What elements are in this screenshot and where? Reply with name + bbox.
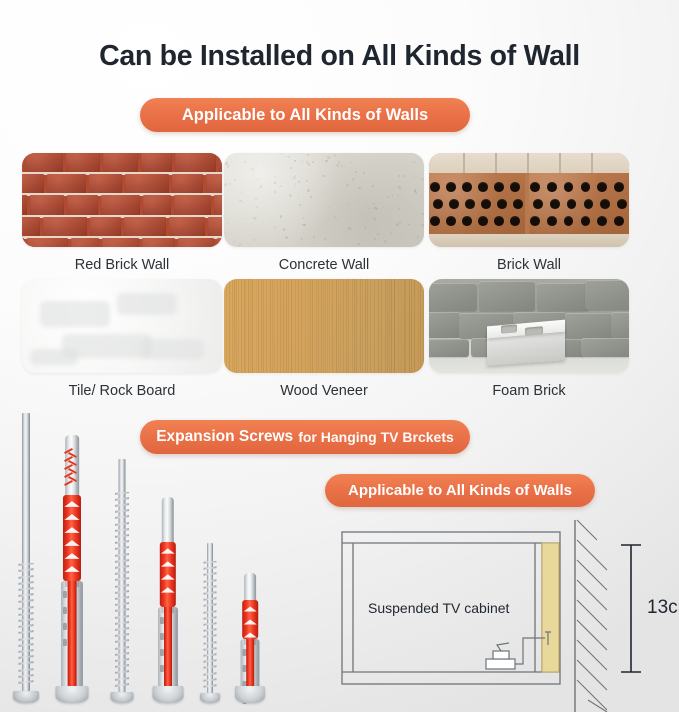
concrete-speck bbox=[293, 176, 296, 179]
concrete-speck bbox=[364, 225, 366, 227]
concrete-speck bbox=[229, 183, 231, 185]
concrete-speck bbox=[397, 194, 399, 196]
chevron-group bbox=[242, 600, 258, 638]
concrete-speck bbox=[251, 168, 254, 171]
wood-grain-line bbox=[409, 279, 410, 373]
concrete-speck bbox=[224, 183, 227, 186]
brick-hole bbox=[494, 182, 504, 192]
brick-unit bbox=[43, 217, 87, 239]
concrete-speck bbox=[227, 223, 228, 224]
concrete-speck bbox=[420, 212, 421, 213]
concrete-speck bbox=[373, 203, 376, 206]
wood-grain-line bbox=[362, 279, 363, 373]
concrete-speck bbox=[274, 176, 276, 178]
anchor-zigzag bbox=[66, 450, 78, 490]
concrete-speck bbox=[400, 161, 401, 162]
wood-grain-line bbox=[274, 279, 275, 373]
badge-applicable-walls-diagram-label: Applicable to All Kinds of Walls bbox=[348, 482, 572, 499]
concrete-speck bbox=[313, 243, 314, 244]
brick-hole bbox=[584, 199, 594, 209]
concrete-speck bbox=[403, 175, 406, 178]
anchor-notch bbox=[63, 639, 67, 646]
concrete-speck bbox=[241, 191, 243, 193]
concrete-speck bbox=[387, 196, 388, 197]
wood-grain-line bbox=[310, 279, 311, 373]
foam-block bbox=[565, 313, 613, 339]
concrete-speck bbox=[234, 179, 236, 181]
brick-unit bbox=[71, 238, 99, 247]
tile-smudge bbox=[142, 339, 204, 359]
foam-block bbox=[479, 281, 535, 311]
wall-caption-concrete: Concrete Wall bbox=[224, 257, 424, 273]
brick-unit bbox=[30, 195, 65, 217]
concrete-speck bbox=[294, 186, 295, 187]
wood-grain-line bbox=[226, 279, 227, 373]
concrete-speck bbox=[413, 161, 415, 163]
wood-grain-line bbox=[340, 279, 341, 373]
concrete-speck bbox=[290, 167, 292, 169]
concrete-speck bbox=[398, 186, 400, 188]
wood-grain-line bbox=[398, 279, 399, 373]
brick-unit bbox=[142, 238, 175, 247]
wood-grain-line bbox=[234, 279, 235, 373]
anchor-notch bbox=[63, 623, 67, 630]
concrete-speck bbox=[321, 159, 322, 160]
concrete-speck bbox=[383, 207, 384, 208]
concrete-speck bbox=[374, 238, 376, 240]
concrete-speck bbox=[321, 196, 322, 197]
wood-grain-line bbox=[312, 279, 313, 373]
concrete-speck bbox=[398, 175, 400, 177]
concrete-speck bbox=[328, 207, 329, 208]
anchor-collar bbox=[56, 686, 89, 703]
concrete-speck bbox=[253, 217, 255, 219]
wall-card-tile: Tile/ Rock Board bbox=[22, 279, 222, 399]
concrete-speck bbox=[225, 232, 226, 233]
concrete-speck bbox=[281, 153, 283, 155]
cabinet-label: Suspended TV cabinet bbox=[368, 600, 509, 616]
concrete-speck bbox=[337, 210, 338, 211]
concrete-speck bbox=[253, 239, 255, 241]
anchor-notch bbox=[160, 665, 164, 672]
screw-thread bbox=[115, 492, 129, 692]
anchor-chevron-band bbox=[63, 495, 81, 580]
concrete-speck bbox=[358, 187, 361, 190]
wood-grain-line bbox=[348, 279, 349, 373]
concrete-speck bbox=[334, 216, 336, 218]
fastener-long-wood-screw bbox=[2, 413, 50, 703]
concrete-speck bbox=[303, 217, 304, 218]
concrete-speck bbox=[271, 223, 272, 224]
concrete-speck bbox=[255, 219, 256, 220]
concrete-speck bbox=[372, 185, 374, 187]
brick-top-course bbox=[429, 153, 629, 173]
brick-unit bbox=[214, 195, 222, 217]
brick-hole bbox=[446, 182, 456, 192]
wood-grain-line bbox=[241, 279, 242, 373]
wood-grain-line bbox=[323, 279, 324, 373]
brick-unit bbox=[124, 217, 166, 239]
concrete-speck bbox=[369, 208, 370, 209]
brick-unit bbox=[47, 174, 86, 196]
brick-unit bbox=[27, 238, 67, 247]
wood-grain-line bbox=[411, 279, 412, 373]
concrete-speck bbox=[310, 196, 312, 198]
concrete-speck bbox=[280, 185, 282, 187]
brick-unit bbox=[174, 195, 211, 217]
brick-hole bbox=[462, 216, 472, 226]
brick-unit bbox=[22, 217, 40, 239]
concrete-speck bbox=[260, 185, 263, 188]
concrete-speck bbox=[356, 175, 357, 176]
brick-seam bbox=[559, 153, 561, 173]
wood-grain-line bbox=[288, 279, 289, 373]
dimension-line bbox=[621, 545, 641, 672]
foam-block bbox=[537, 283, 589, 311]
concrete-speck bbox=[352, 178, 354, 180]
wood-grain-line bbox=[236, 279, 237, 373]
brick-unit bbox=[90, 217, 121, 239]
fastener-medium-expansion-anchor bbox=[144, 497, 192, 703]
wood-grain-line bbox=[336, 279, 337, 373]
foam-block-hole bbox=[501, 324, 517, 333]
anchor-chevron-band bbox=[242, 600, 258, 638]
concrete-speck bbox=[341, 165, 342, 166]
wood-grain-line bbox=[238, 279, 239, 373]
wood-grain-line bbox=[343, 279, 344, 373]
brick-hole bbox=[478, 216, 488, 226]
brick-unit bbox=[125, 174, 169, 196]
wood-grain-line bbox=[298, 279, 299, 373]
concrete-speck bbox=[415, 191, 418, 194]
brick-hole bbox=[530, 216, 540, 226]
concrete-speck bbox=[294, 160, 296, 162]
brick-unit bbox=[169, 217, 205, 239]
dimension-label: 13cm bbox=[647, 597, 679, 619]
wood-grain-line bbox=[352, 279, 353, 373]
concrete-speck bbox=[255, 198, 257, 200]
wood-grain-line bbox=[286, 279, 287, 373]
brick-hole bbox=[430, 216, 440, 226]
concrete-speck bbox=[285, 156, 286, 157]
concrete-speck bbox=[363, 172, 366, 175]
wood-grain-line bbox=[305, 279, 306, 373]
brick-seam bbox=[527, 153, 529, 173]
wall-card-brick: Brick Wall bbox=[429, 153, 629, 273]
wall-card-concrete: Concrete Wall bbox=[224, 153, 424, 273]
anchor-notch bbox=[160, 617, 164, 624]
brick-row bbox=[22, 217, 222, 239]
concrete-speck bbox=[399, 221, 401, 223]
wood-grain-line bbox=[356, 279, 357, 373]
brick-hole bbox=[465, 199, 475, 209]
brick-unit bbox=[175, 153, 216, 174]
wood-grain-line bbox=[332, 279, 333, 373]
tile-smudge bbox=[117, 293, 177, 315]
fastener-group bbox=[0, 405, 300, 712]
foam-block bbox=[581, 338, 629, 357]
concrete-speck bbox=[304, 224, 306, 226]
concrete-speck bbox=[334, 155, 336, 157]
concrete-speck bbox=[406, 209, 407, 210]
brick-unit bbox=[89, 174, 122, 196]
brick-unit bbox=[103, 153, 139, 174]
brick-seam bbox=[463, 153, 465, 173]
brick-hole bbox=[449, 199, 459, 209]
concrete-speck bbox=[421, 224, 424, 227]
anchor-collar bbox=[235, 686, 265, 703]
brick-bottom-course bbox=[429, 234, 629, 247]
concrete-speck bbox=[244, 161, 246, 163]
brick-hole bbox=[513, 199, 523, 209]
foam-block bbox=[429, 312, 461, 338]
concrete-speck bbox=[376, 208, 378, 210]
brick-hole bbox=[430, 182, 440, 192]
wood-grain-line bbox=[423, 279, 424, 373]
wall-hatching bbox=[577, 520, 607, 712]
concrete-speck bbox=[295, 183, 296, 184]
concrete-speck bbox=[421, 195, 422, 196]
brick-row bbox=[22, 238, 222, 247]
concrete-speck bbox=[298, 197, 299, 198]
concrete-speck bbox=[245, 218, 247, 220]
concrete-speck bbox=[312, 161, 314, 163]
wood-grain-line bbox=[258, 279, 259, 373]
wood-grain-line bbox=[327, 279, 328, 373]
badge-applicable-walls-top: Applicable to All Kinds of Walls bbox=[140, 98, 470, 132]
badge-applicable-walls-top-label: Applicable to All Kinds of Walls bbox=[182, 106, 428, 125]
wood-grain-line bbox=[229, 279, 230, 373]
wood-grain-line bbox=[232, 279, 233, 373]
screw-head bbox=[200, 693, 220, 703]
concrete-speck bbox=[285, 236, 288, 239]
concrete-speck bbox=[337, 165, 339, 167]
wood-grain-line bbox=[266, 279, 267, 373]
wood-grain-line bbox=[250, 279, 251, 373]
wall-card-wood: Wood Veneer bbox=[224, 279, 424, 399]
concrete-speck bbox=[256, 162, 257, 163]
wood-grain-line bbox=[270, 279, 271, 373]
concrete-speck bbox=[330, 183, 331, 184]
concrete-speck bbox=[308, 164, 310, 166]
concrete-speck bbox=[242, 202, 244, 204]
concrete-speck bbox=[393, 229, 394, 230]
wood-grain-line bbox=[414, 279, 415, 373]
concrete-speck bbox=[337, 219, 338, 220]
concrete-speck bbox=[383, 237, 384, 238]
concrete-speck bbox=[274, 191, 276, 193]
brick-unit bbox=[178, 238, 213, 247]
concrete-speck bbox=[319, 162, 320, 163]
wood-grain-line bbox=[378, 279, 379, 373]
wood-grain-line bbox=[291, 279, 292, 373]
concrete-speck bbox=[289, 194, 292, 197]
concrete-speck bbox=[230, 159, 232, 161]
concrete-speck bbox=[326, 160, 328, 162]
wood-grain-line bbox=[401, 279, 402, 373]
brick-hole bbox=[533, 199, 543, 209]
screw-head bbox=[13, 691, 39, 703]
brick-hole bbox=[478, 182, 488, 192]
concrete-speck bbox=[365, 227, 367, 229]
brick-hole bbox=[433, 199, 443, 209]
concrete-speck bbox=[231, 161, 232, 162]
brick-block-left bbox=[429, 173, 525, 234]
concrete-speck bbox=[226, 155, 228, 157]
brick-hole bbox=[530, 182, 540, 192]
concrete-speck bbox=[384, 240, 387, 243]
concrete-speck bbox=[253, 167, 254, 168]
wall-card-foam: Foam Brick bbox=[429, 279, 629, 399]
brick-hole bbox=[547, 216, 557, 226]
brick-hole bbox=[494, 216, 504, 226]
screw-thread bbox=[19, 563, 34, 691]
anchor-notch bbox=[160, 633, 164, 640]
concrete-speck bbox=[322, 175, 324, 177]
concrete-speck bbox=[365, 206, 367, 208]
concrete-speck bbox=[306, 217, 307, 218]
concrete-speck bbox=[422, 213, 424, 215]
foam-block bbox=[429, 283, 477, 311]
wood-grain-line bbox=[301, 279, 302, 373]
wood-grain-line bbox=[367, 279, 368, 373]
wood-grain-line bbox=[277, 279, 278, 373]
wood-grain-line bbox=[389, 279, 390, 373]
brick-hole bbox=[550, 199, 560, 209]
wall-panel-strip bbox=[542, 543, 559, 672]
wood-grain-line bbox=[346, 279, 347, 373]
brick-hole bbox=[481, 199, 491, 209]
concrete-speck bbox=[358, 243, 360, 245]
brick-hole bbox=[597, 182, 607, 192]
concrete-speck bbox=[348, 227, 351, 230]
tile-smudge bbox=[30, 349, 78, 365]
anchor-collar bbox=[153, 686, 184, 703]
concrete-speck bbox=[408, 224, 410, 226]
brick-seam bbox=[495, 153, 497, 173]
concrete-speck bbox=[303, 232, 305, 234]
tile-smudge bbox=[40, 301, 110, 327]
concrete-speck bbox=[274, 226, 276, 228]
fastener-medium-wood-screw bbox=[98, 459, 146, 703]
concrete-speck bbox=[417, 236, 419, 238]
wood-grain-line bbox=[385, 279, 386, 373]
concrete-speck bbox=[269, 190, 271, 192]
wood-grain-line bbox=[261, 279, 262, 373]
brick-unit bbox=[22, 174, 44, 196]
swatch-tile-rock-board bbox=[22, 279, 222, 373]
wood-grain-line bbox=[338, 279, 339, 373]
concrete-speck bbox=[377, 234, 378, 235]
wood-grain-line bbox=[263, 279, 264, 373]
concrete-speck bbox=[338, 161, 341, 164]
concrete-speck bbox=[421, 178, 424, 181]
concrete-speck bbox=[290, 163, 291, 164]
chevron-group bbox=[160, 542, 176, 606]
brick-block-right bbox=[529, 173, 629, 234]
brick-unit bbox=[208, 217, 222, 239]
wall-caption-foam: Foam Brick bbox=[429, 383, 629, 399]
concrete-speck bbox=[255, 217, 257, 219]
wood-grain-line bbox=[391, 279, 392, 373]
anchor-notch bbox=[63, 607, 67, 614]
concrete-speck bbox=[373, 218, 376, 221]
concrete-speck bbox=[414, 176, 415, 177]
wood-grain-line bbox=[272, 279, 273, 373]
wall-caption-tile: Tile/ Rock Board bbox=[22, 383, 222, 399]
concrete-speck bbox=[356, 199, 358, 201]
concrete-speck bbox=[415, 154, 416, 155]
brick-unit bbox=[141, 153, 172, 174]
brick-seam bbox=[591, 153, 593, 173]
badge-applicable-walls-diagram: Applicable to All Kinds of Walls bbox=[325, 474, 595, 507]
swatch-concrete-wall bbox=[224, 153, 424, 247]
brick-unit bbox=[25, 153, 63, 174]
brick-hole bbox=[446, 216, 456, 226]
brick-unit bbox=[22, 238, 24, 247]
brick-unit bbox=[66, 153, 99, 174]
concrete-speck bbox=[286, 211, 287, 212]
fastener-long-expansion-anchor bbox=[48, 435, 96, 703]
concrete-speck bbox=[398, 208, 400, 210]
brick-hole bbox=[462, 182, 472, 192]
swatch-wood-veneer bbox=[224, 279, 424, 373]
concrete-speck bbox=[347, 204, 350, 207]
concrete-speck bbox=[312, 189, 314, 191]
wood-grain-line bbox=[374, 279, 375, 373]
concrete-speck bbox=[269, 195, 270, 196]
brick-hole bbox=[614, 216, 624, 226]
brick-hole bbox=[581, 216, 591, 226]
wood-grain-line bbox=[370, 279, 371, 373]
wood-grain-line bbox=[360, 279, 361, 373]
fastener-short-expansion-anchor bbox=[226, 573, 274, 703]
brick-hole bbox=[567, 199, 577, 209]
brick-row bbox=[22, 174, 222, 196]
foam-block-hole bbox=[525, 326, 543, 336]
brick-unit bbox=[172, 174, 203, 196]
screw-head bbox=[111, 692, 134, 703]
brick-hole bbox=[614, 182, 624, 192]
brick-unit bbox=[101, 195, 141, 217]
concrete-speck bbox=[275, 200, 276, 201]
concrete-speck bbox=[401, 197, 402, 198]
brick-row bbox=[22, 195, 222, 217]
swatch-foam-brick bbox=[429, 279, 629, 373]
brick-hole bbox=[617, 199, 627, 209]
concrete-speck bbox=[396, 223, 399, 226]
foam-block bbox=[429, 339, 469, 357]
wall-caption-brick: Brick Wall bbox=[429, 257, 629, 273]
wood-grain-line bbox=[420, 279, 421, 373]
wood-grain-line bbox=[316, 279, 317, 373]
concrete-speck bbox=[273, 164, 274, 165]
foam-block bbox=[585, 280, 629, 310]
wood-grain-line bbox=[381, 279, 382, 373]
wood-grain-line bbox=[308, 279, 309, 373]
concrete-speck bbox=[335, 238, 337, 240]
concrete-speck bbox=[323, 192, 324, 193]
concrete-speck bbox=[256, 206, 258, 208]
wood-grain-line bbox=[354, 279, 355, 373]
concrete-speck bbox=[306, 161, 309, 164]
wood-grain-line bbox=[405, 279, 406, 373]
wall-caption-red-brick: Red Brick Wall bbox=[22, 257, 222, 273]
concrete-speck bbox=[381, 246, 382, 247]
concrete-speck bbox=[315, 224, 316, 225]
page-title: Can be Installed on All Kinds of Wall bbox=[0, 40, 679, 73]
wood-grain-line bbox=[418, 279, 419, 373]
